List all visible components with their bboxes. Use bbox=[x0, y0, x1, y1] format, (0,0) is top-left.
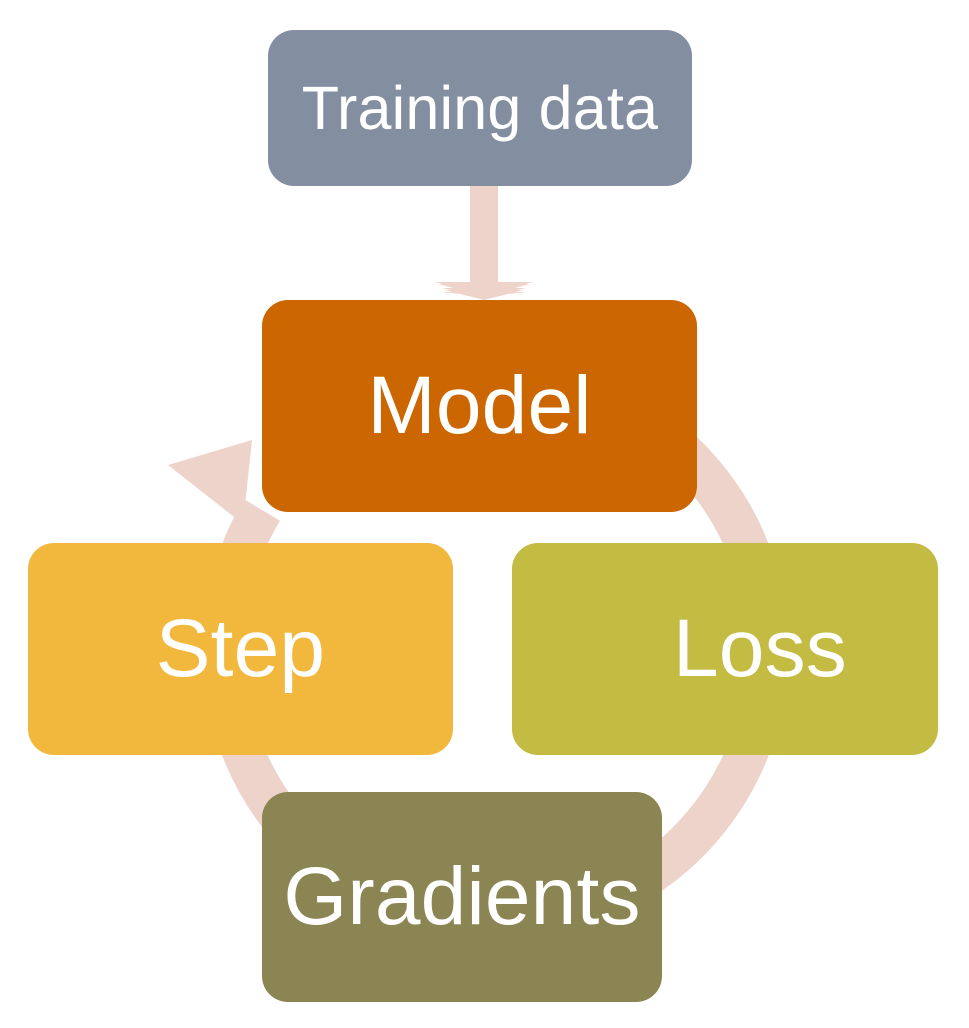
feed-arrow bbox=[436, 186, 532, 300]
node-gradients[interactable]: Gradients bbox=[262, 792, 662, 1002]
node-step[interactable]: Step bbox=[28, 543, 453, 755]
node-loss-label: Loss bbox=[673, 608, 847, 690]
node-model-label: Model bbox=[367, 365, 591, 447]
node-loss[interactable]: Loss bbox=[512, 543, 938, 755]
node-step-label: Step bbox=[156, 608, 326, 690]
node-training-data[interactable]: Training data bbox=[268, 30, 692, 186]
node-model[interactable]: Model bbox=[262, 300, 697, 512]
diagram-canvas: Training data Model Loss Gradients Step bbox=[0, 0, 969, 1028]
node-gradients-label: Gradients bbox=[283, 856, 640, 938]
node-training-data-label: Training data bbox=[302, 78, 658, 139]
